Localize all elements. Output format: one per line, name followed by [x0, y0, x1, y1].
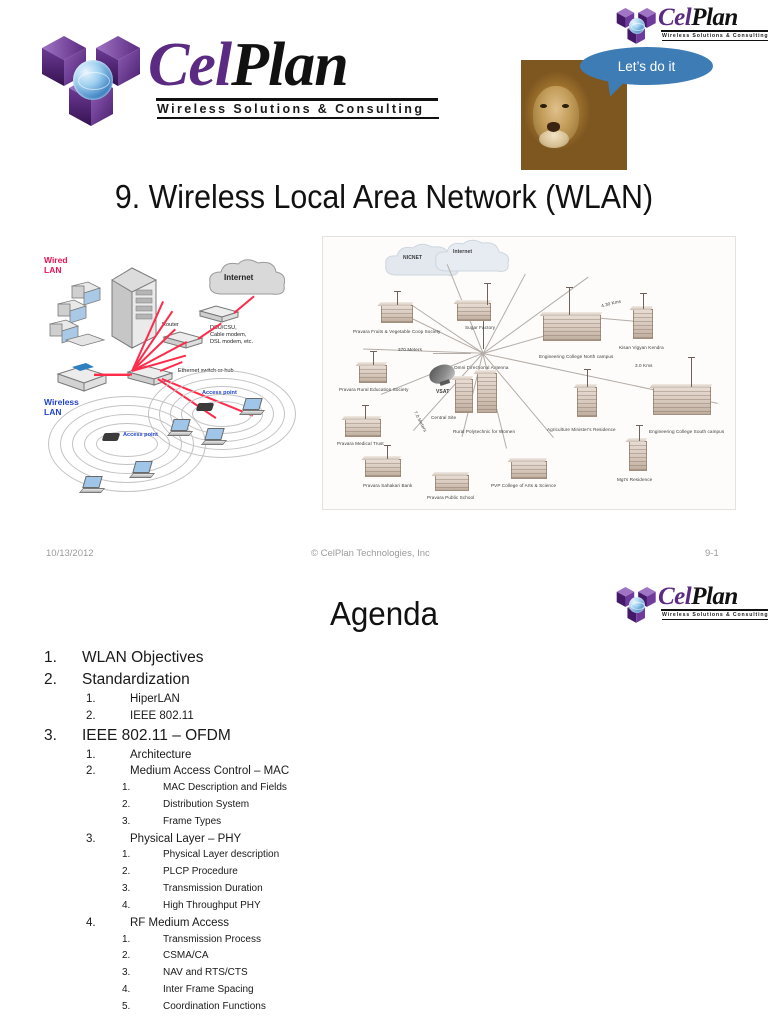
agenda-item-label: Frame Types: [163, 814, 221, 831]
building-icon: [477, 373, 497, 413]
agenda-item[interactable]: 3.Frame Types: [40, 814, 600, 831]
footer-page-number: 9-1: [705, 548, 719, 559]
agenda-item-number: 3.: [122, 881, 163, 898]
building-icon: [653, 387, 711, 415]
celplan-logo: CelPlan Wireless Solutions & Consulting: [38, 26, 458, 136]
diagram-label-wired-lan: Wired LAN: [44, 256, 68, 276]
lion-eye-left: [540, 104, 547, 108]
agenda-list: 1.WLAN Objectives2.Standardization1.Hipe…: [40, 647, 600, 1016]
building-icon: [455, 379, 473, 413]
agenda-item-label: High Throughput PHY: [163, 898, 261, 915]
wireless-lan-line2: LAN: [44, 407, 61, 417]
agenda-item[interactable]: 2.Standardization: [40, 669, 600, 691]
celplan-wordmark-small: CelPlan Wireless Solutions & Consulting: [658, 5, 768, 41]
brand-cel: Cel: [148, 31, 231, 99]
brand-plan-small: Plan: [691, 4, 738, 31]
wordmark-rule-bottom: [157, 117, 439, 119]
rural-wireless-network-diagram: NICNET Internet Omni Directional Antenna: [322, 236, 736, 510]
lion-muzzle: [539, 130, 569, 148]
building-icon: [381, 305, 413, 323]
modem-line2: Cable modem,: [210, 332, 246, 338]
agenda-item-label: Physical Layer – PHY: [130, 831, 241, 848]
celplan-wordmark: CelPlan Wireless Solutions & Consulting: [148, 34, 458, 119]
access-point-icon: [196, 403, 215, 411]
building-mast-icon: [387, 445, 388, 459]
site-label-0: Pravara Fruits & Vegetable Coop Society: [353, 329, 440, 334]
distance-label-430km: 4.30 Kms: [601, 299, 622, 309]
agenda-item[interactable]: 2.Distribution System: [40, 797, 600, 814]
building-icon: [577, 387, 597, 417]
agenda-item-label: Physical Layer description: [163, 847, 279, 864]
slide-title-page: CelPlan Wireless Solutions & Consulting: [0, 0, 768, 575]
agenda-item[interactable]: 4.High Throughput PHY: [40, 898, 600, 915]
diagram-label-access-point-2: Access point: [123, 432, 158, 439]
cube-logo-icon: [38, 26, 148, 134]
building-mast-icon: [643, 293, 644, 309]
building-mast-icon: [373, 351, 374, 365]
agenda-item[interactable]: 2.Medium Access Control – MAC: [40, 763, 600, 780]
building-mast-icon: [639, 425, 640, 441]
agenda-item-number: 1.: [122, 847, 163, 864]
link-line: [94, 374, 130, 376]
agenda-item-label: IEEE 802.11 – OFDM: [82, 725, 231, 747]
agenda-item-label: IEEE 802.11: [130, 708, 194, 725]
agenda-item-number: 1.: [86, 747, 130, 764]
agenda-item-number: 5.: [122, 999, 163, 1016]
site-label-10: Agriculture Minister's Residence: [547, 427, 616, 432]
agenda-item-label: MAC Description and Fields: [163, 780, 287, 797]
agenda-item[interactable]: 1.MAC Description and Fields: [40, 780, 600, 797]
site-label-8: Rural Polytechnic for Women: [453, 429, 515, 434]
radio-link-line: [433, 353, 471, 354]
cube-logo-icon-small: [615, 4, 659, 47]
wired-lan-line2: LAN: [44, 265, 61, 275]
workstations-icon: [48, 280, 120, 356]
agenda-item[interactable]: 1.Architecture: [40, 747, 600, 764]
building-mast-icon: [587, 369, 588, 387]
diagram-label-nicnet: NICNET: [403, 255, 422, 261]
diagram-label-access-point-1: Access point: [202, 390, 237, 397]
agenda-item-label: Distribution System: [163, 797, 249, 814]
wordmark-rule-bottom-small: [662, 40, 768, 41]
building-mast-icon: [569, 287, 570, 315]
speech-bubble-text: Let’s do it: [618, 59, 676, 74]
building-icon: [435, 475, 469, 491]
building-mast-icon: [365, 405, 366, 419]
site-label-5: Pravara Medical Trust: [337, 441, 384, 446]
brand-tagline: Wireless Solutions & Consulting: [157, 102, 458, 116]
agenda-item-label: WLAN Objectives: [82, 647, 203, 669]
globe-icon-agenda: [629, 597, 645, 613]
wired-lan-line1: Wired: [44, 255, 68, 265]
wired-wireless-lan-diagram: Wired LAN Wireless LAN Internet: [38, 246, 320, 514]
agenda-item-label: CSMA/CA: [163, 948, 209, 965]
agenda-item[interactable]: 3.Transmission Duration: [40, 881, 600, 898]
agenda-item[interactable]: 4.Inter Frame Spacing: [40, 982, 600, 999]
building-icon: [457, 303, 491, 321]
lion-eye-right: [562, 104, 569, 108]
agenda-item-number: 4.: [122, 982, 163, 999]
agenda-item[interactable]: 2.PLCP Procedure: [40, 864, 600, 881]
slide-footer: 10/13/2012 © CelPlan Technologies, Inc 9…: [0, 548, 768, 568]
agenda-item-number: 3.: [122, 965, 163, 982]
globe-icon: [73, 60, 113, 100]
agenda-item-label: Standardization: [82, 669, 190, 691]
distance-label-30km: 3.0 Kms: [635, 363, 653, 368]
agenda-item-number: 3.: [40, 725, 82, 747]
agenda-item-number: 2.: [122, 797, 163, 814]
agenda-item-label: PLCP Procedure: [163, 864, 238, 881]
building-icon: [629, 441, 647, 471]
agenda-item-label: Architecture: [130, 747, 191, 764]
agenda-item-number: 2.: [86, 708, 130, 725]
agenda-item-number: 3.: [122, 814, 163, 831]
diagram-label-modem: DSU/CSU, Cable modem, DSL modem, etc.: [210, 325, 253, 346]
agenda-item[interactable]: 3.NAV and RTS/CTS: [40, 965, 600, 982]
agenda-item-label: Medium Access Control – MAC: [130, 763, 289, 780]
page-title: 9. Wireless Local Area Network (WLAN): [31, 178, 738, 216]
agenda-item-number: 2.: [86, 763, 130, 780]
distance-label-370m: 370 Meters: [398, 347, 422, 352]
agenda-item[interactable]: 1.Physical Layer description: [40, 847, 600, 864]
agenda-item-label: Coordination Functions: [163, 999, 266, 1016]
wireless-lan-line1: Wireless: [44, 397, 79, 407]
building-icon: [633, 309, 653, 339]
agenda-item-label: HiperLAN: [130, 691, 180, 708]
diagram-label-central-site: Central Site: [431, 415, 456, 420]
agenda-item[interactable]: 1.WLAN Objectives: [40, 647, 600, 669]
site-label-11: Engineering College South campus: [649, 429, 724, 434]
site-label-1: Sugar Factory: [465, 325, 495, 330]
agenda-item[interactable]: 1.HiperLAN: [40, 691, 600, 708]
agenda-item-number: 4.: [86, 915, 130, 932]
diagram-label-internet: Internet: [224, 273, 253, 283]
brand-plan: Plan: [231, 31, 348, 99]
footer-copyright: © CelPlan Technologies, Inc: [311, 548, 430, 559]
presentation-page: CelPlan Wireless Solutions & Consulting: [0, 0, 768, 1024]
building-mast-icon: [487, 283, 488, 305]
building-icon: [345, 419, 381, 437]
site-label-2: Engineering College North campus: [539, 354, 613, 359]
building-mast-icon: [691, 357, 692, 387]
slide-agenda: CelPlan Wireless Solutions & Consulting …: [0, 575, 768, 1024]
lion-nose: [547, 122, 560, 132]
site-label-9: PVP College of Arts & Science: [491, 483, 556, 488]
agenda-item-label: Inter Frame Spacing: [163, 982, 254, 999]
agenda-item-label: RF Medium Access: [130, 915, 229, 932]
site-label-4: Pravara Rural Education Society: [339, 387, 409, 392]
agenda-item-number: 3.: [86, 831, 130, 848]
agenda-item-number: 2.: [40, 669, 82, 691]
agenda-item[interactable]: 2.CSMA/CA: [40, 948, 600, 965]
footer-date: 10/13/2012: [46, 548, 94, 559]
agenda-item[interactable]: 4.RF Medium Access: [40, 915, 600, 932]
building-icon: [543, 315, 601, 341]
distance-label-70m: 7.0 Meters: [413, 410, 428, 432]
site-label-12: Mgt's Residence: [617, 477, 652, 482]
cloud-internet-icon: [431, 237, 521, 279]
globe-icon-small: [629, 18, 645, 34]
agenda-item-number: 1.: [40, 647, 82, 669]
agenda-item-number: 1.: [122, 932, 163, 949]
agenda-item-number: 1.: [86, 691, 130, 708]
agenda-item-number: 2.: [122, 864, 163, 881]
brand-tagline-small: Wireless Solutions & Consulting: [662, 33, 768, 39]
agenda-item-label: Transmission Duration: [163, 881, 263, 898]
agenda-item[interactable]: 5.Coordination Functions: [40, 999, 600, 1016]
site-label-7: Pravara Public School: [427, 495, 474, 500]
building-icon: [359, 365, 387, 383]
agenda-item-number: 2.: [122, 948, 163, 965]
access-point-icon: [102, 433, 121, 441]
diagram-label-vsat: VSAT: [436, 389, 449, 395]
agenda-item-label: NAV and RTS/CTS: [163, 965, 248, 982]
building-icon: [511, 461, 547, 479]
celplan-logo-corner: CelPlan Wireless Solutions & Consulting: [615, 4, 767, 48]
building-icon: [365, 459, 401, 477]
brand-cel-small: Cel: [658, 4, 691, 31]
agenda-item-label: Transmission Process: [163, 932, 261, 949]
site-label-6: Pravara Sahakari Bank: [363, 483, 412, 488]
diagram-label-internet-cloud: Internet: [453, 249, 472, 255]
agenda-item-number: 1.: [122, 780, 163, 797]
modem-line3: DSL modem, etc.: [210, 339, 253, 345]
printer-icon: [54, 362, 110, 394]
agenda-item-number: 4.: [122, 898, 163, 915]
speech-bubble: Let’s do it: [580, 47, 713, 85]
agenda-item[interactable]: 1.Transmission Process: [40, 932, 600, 949]
agenda-item[interactable]: 3.Physical Layer – PHY: [40, 831, 600, 848]
site-label-3: Kisan Vigyan Kendra: [619, 345, 664, 350]
agenda-item[interactable]: 2.IEEE 802.11: [40, 708, 600, 725]
agenda-item[interactable]: 3.IEEE 802.11 – OFDM: [40, 725, 600, 747]
building-mast-icon: [397, 291, 398, 305]
